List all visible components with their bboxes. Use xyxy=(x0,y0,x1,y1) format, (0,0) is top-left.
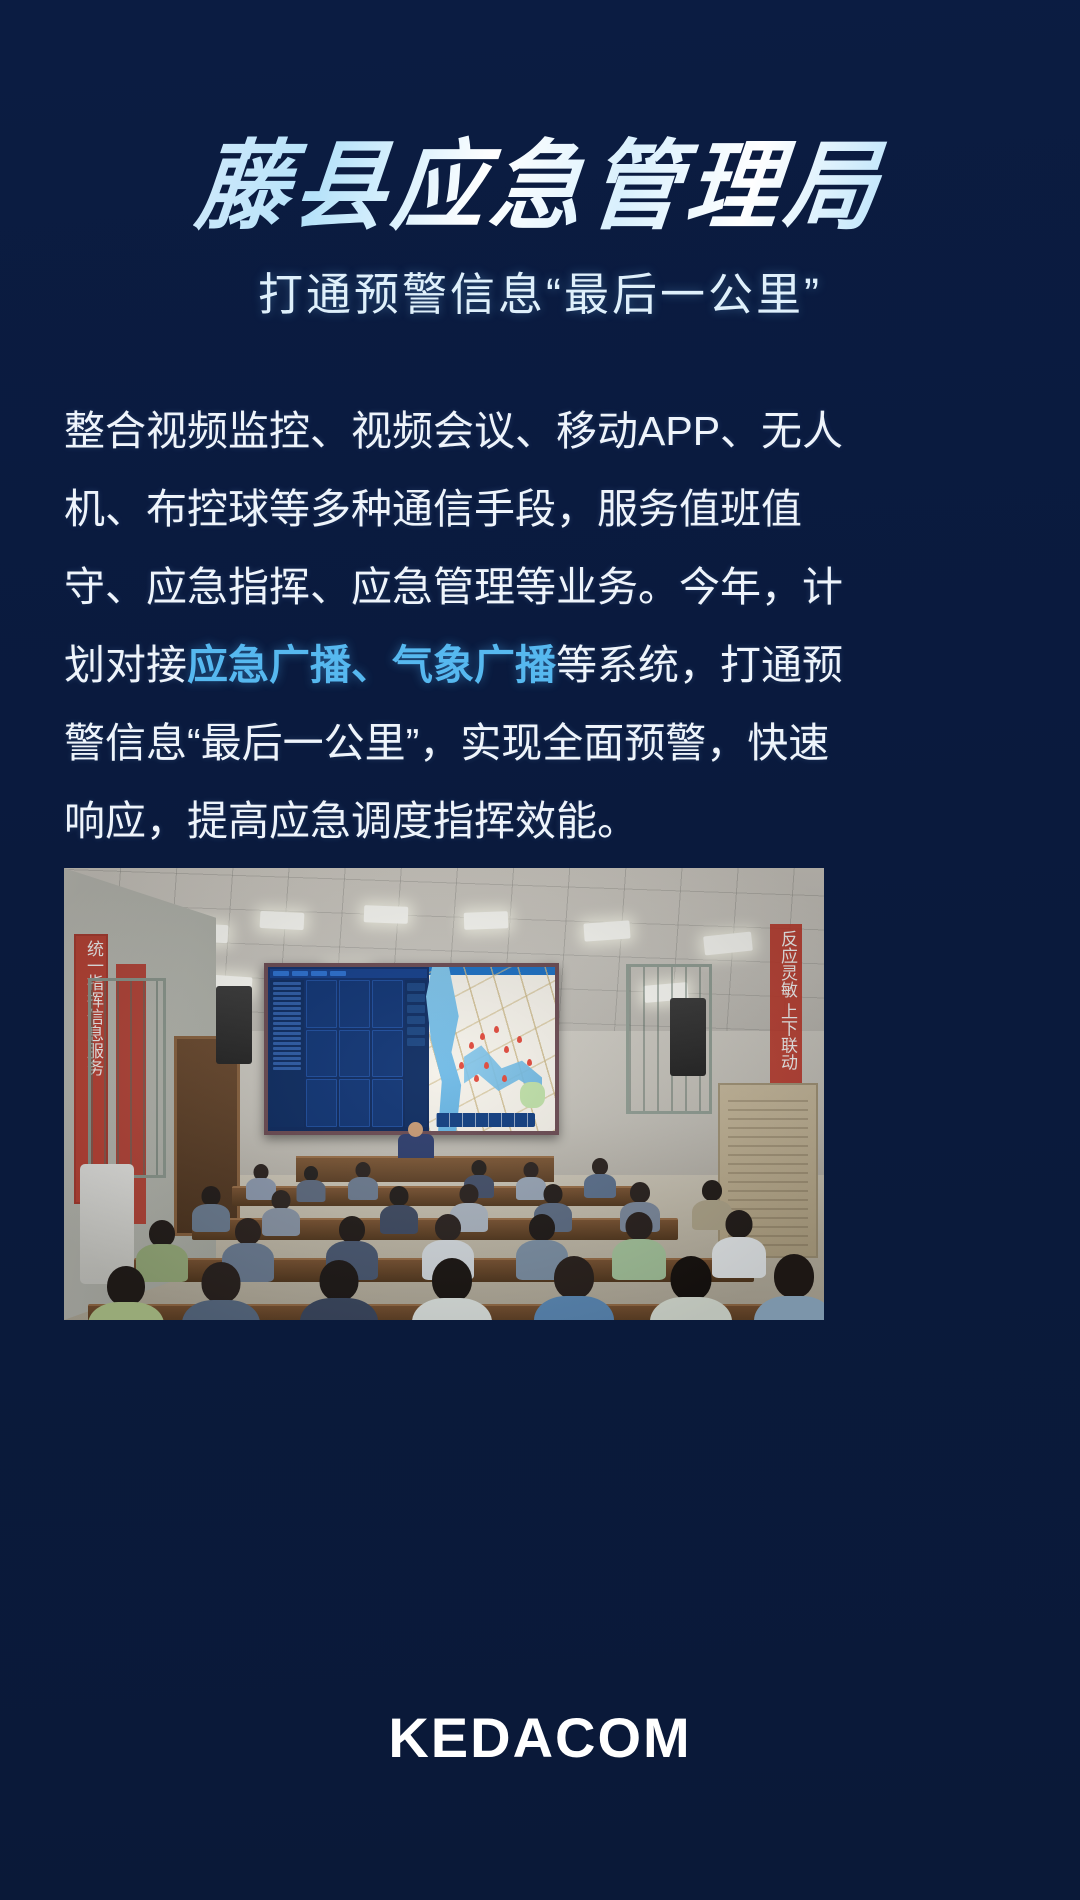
person-head xyxy=(304,1166,318,1181)
person-torso xyxy=(650,1297,732,1320)
person-head xyxy=(726,1210,753,1238)
person-head xyxy=(460,1184,479,1204)
person-head xyxy=(592,1158,608,1175)
person-head xyxy=(272,1190,291,1210)
presenter-body xyxy=(398,1134,434,1158)
large-display xyxy=(264,963,559,1135)
map-pin xyxy=(517,1036,522,1043)
person-torso xyxy=(348,1177,378,1200)
person-torso xyxy=(534,1296,614,1320)
presenter-head xyxy=(408,1122,423,1137)
person-torso xyxy=(182,1300,260,1320)
body-paragraph: 整合视频监控、视频会议、移动APP、无人机、布控球等多种通信手段，服务值班值守、… xyxy=(64,392,854,860)
person-head xyxy=(235,1218,261,1245)
ceiling-light xyxy=(260,911,305,930)
person-head xyxy=(472,1160,487,1176)
brand-logo: KEDACOM xyxy=(0,1705,1080,1770)
left-window xyxy=(88,978,166,1178)
person-torso xyxy=(380,1205,418,1234)
map-pin xyxy=(459,1062,464,1069)
audience-person xyxy=(88,1266,164,1320)
map-pin xyxy=(527,1059,532,1066)
person-head xyxy=(702,1180,722,1201)
person-torso xyxy=(412,1298,492,1320)
display-toolbar xyxy=(270,969,427,978)
display-map-panel xyxy=(429,967,555,1131)
audience-person xyxy=(534,1256,614,1320)
person-head xyxy=(524,1162,539,1178)
person-head xyxy=(320,1260,359,1301)
map-legend xyxy=(436,1113,534,1127)
audience-person xyxy=(182,1262,260,1320)
person-torso xyxy=(300,1298,378,1320)
map-green-area xyxy=(520,1082,545,1108)
page-title: 藤县应急管理局 xyxy=(192,135,889,237)
wall-speaker-left xyxy=(216,986,252,1064)
ceiling-light xyxy=(364,905,409,924)
person-head xyxy=(544,1184,563,1204)
page-subtitle: 打通预警信息“最后一公里” xyxy=(0,258,1080,323)
person-head xyxy=(626,1212,653,1240)
person-torso xyxy=(754,1296,824,1320)
person-torso xyxy=(297,1180,326,1202)
person-head xyxy=(202,1186,221,1206)
map-pin xyxy=(502,1075,507,1082)
person-head xyxy=(432,1258,472,1302)
body-segment-highlight: 应急广播、气象广播 xyxy=(187,642,556,688)
person-head xyxy=(202,1262,241,1303)
audience-person xyxy=(754,1254,824,1320)
person-head xyxy=(149,1220,175,1247)
scene-photo: 统一指挥信息服务 反应灵敏 上下联动 xyxy=(64,868,824,1320)
wall-speaker-right xyxy=(670,998,706,1076)
person-head xyxy=(339,1216,365,1243)
person-head xyxy=(390,1186,409,1206)
person-head xyxy=(630,1182,650,1203)
person-head xyxy=(107,1266,145,1306)
person-head xyxy=(435,1214,461,1241)
poster-root: 藤县应急管理局 打通预警信息“最后一公里” 整合视频监控、视频会议、移动APP、… xyxy=(0,0,1080,1900)
person-head xyxy=(529,1214,555,1241)
person-head xyxy=(554,1256,594,1299)
person-torso xyxy=(584,1174,616,1198)
audience-person xyxy=(300,1260,378,1320)
ceiling-light xyxy=(583,920,630,941)
person-torso xyxy=(88,1302,164,1320)
audience-person xyxy=(380,1186,418,1234)
audience-person xyxy=(412,1258,492,1320)
audience-person xyxy=(650,1256,732,1320)
person-head xyxy=(356,1162,371,1178)
title-block: 藤县应急管理局 xyxy=(0,138,1080,235)
display-left-panel xyxy=(268,967,429,1131)
audience-person xyxy=(348,1162,378,1200)
display-workspace xyxy=(270,978,427,1127)
photo-content: 统一指挥信息服务 反应灵敏 上下联动 xyxy=(64,868,824,1320)
wall-banner-right-text: 反应灵敏 上下联动 xyxy=(770,930,802,1071)
audience-person xyxy=(584,1158,616,1198)
display-device-tree xyxy=(270,980,304,1127)
display-video-tiles xyxy=(306,980,402,1127)
person-head xyxy=(671,1256,712,1301)
person-head xyxy=(774,1254,814,1298)
audience-person xyxy=(296,1166,326,1202)
ceiling-light xyxy=(464,911,509,930)
display-tool-rail xyxy=(405,980,427,1127)
